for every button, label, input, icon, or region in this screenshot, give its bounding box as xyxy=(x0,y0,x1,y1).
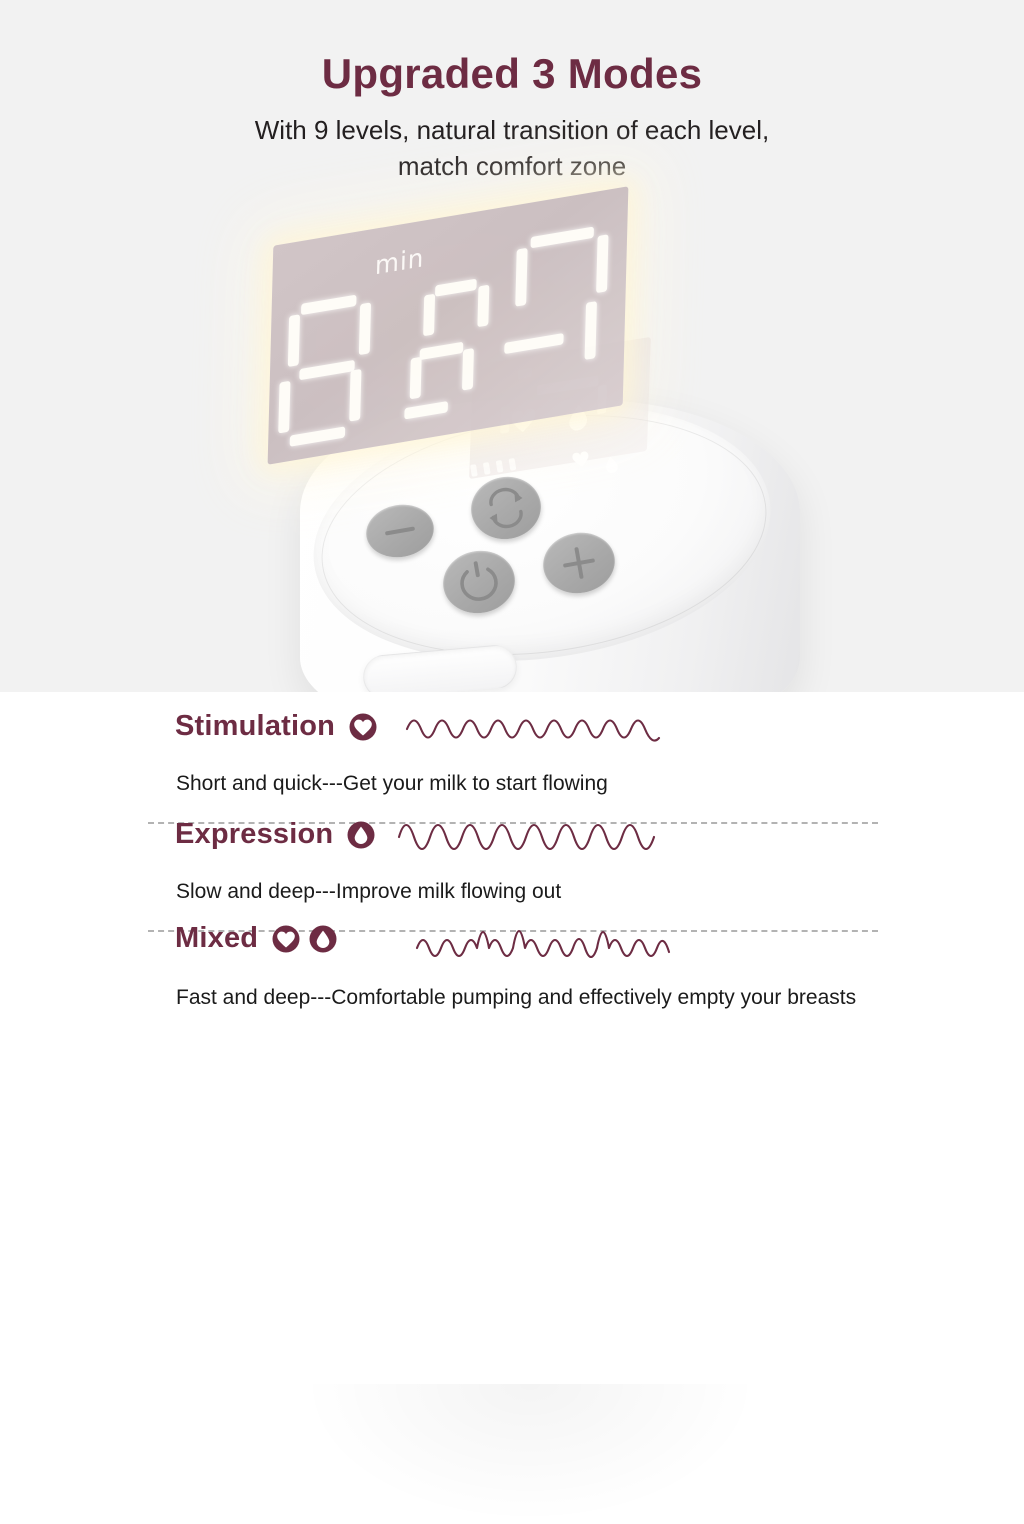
device-shadow xyxy=(300,1384,760,1524)
waveform-stimulation xyxy=(405,708,665,750)
droplet-icon xyxy=(347,821,375,849)
droplet-icon xyxy=(309,925,337,953)
mode-name-expression: Expression xyxy=(175,820,333,849)
page-subtitle: With 9 levels, natural transition of eac… xyxy=(0,112,1024,184)
mode-desc-expression: Slow and deep---Improve milk flowing out xyxy=(176,880,561,904)
mode-name-mixed: Mixed xyxy=(175,924,258,953)
waveform-expression xyxy=(397,807,659,867)
subtitle-line-2: match comfort zone xyxy=(398,151,626,181)
mode-icons-expression xyxy=(347,821,375,849)
page-title: Upgraded 3 Modes xyxy=(0,50,1024,98)
mode-name-stimulation: Stimulation xyxy=(175,712,335,741)
mode-desc-mixed: Fast and deep---Comfortable pumping and … xyxy=(176,986,856,1010)
heart-icon xyxy=(349,713,377,741)
subtitle-line-1: With 9 levels, natural transition of eac… xyxy=(255,115,769,145)
mode-desc-stimulation: Short and quick---Get your milk to start… xyxy=(176,772,608,796)
heart-icon xyxy=(272,925,300,953)
mode-icons-stimulation xyxy=(349,713,377,741)
waveform-mixed xyxy=(415,908,675,970)
hero-section: Upgraded 3 Modes With 9 levels, natural … xyxy=(0,0,1024,692)
mode-icons-mixed xyxy=(272,925,337,953)
modes-section: Stimulation Short and quick---Get your m… xyxy=(0,692,1024,1024)
